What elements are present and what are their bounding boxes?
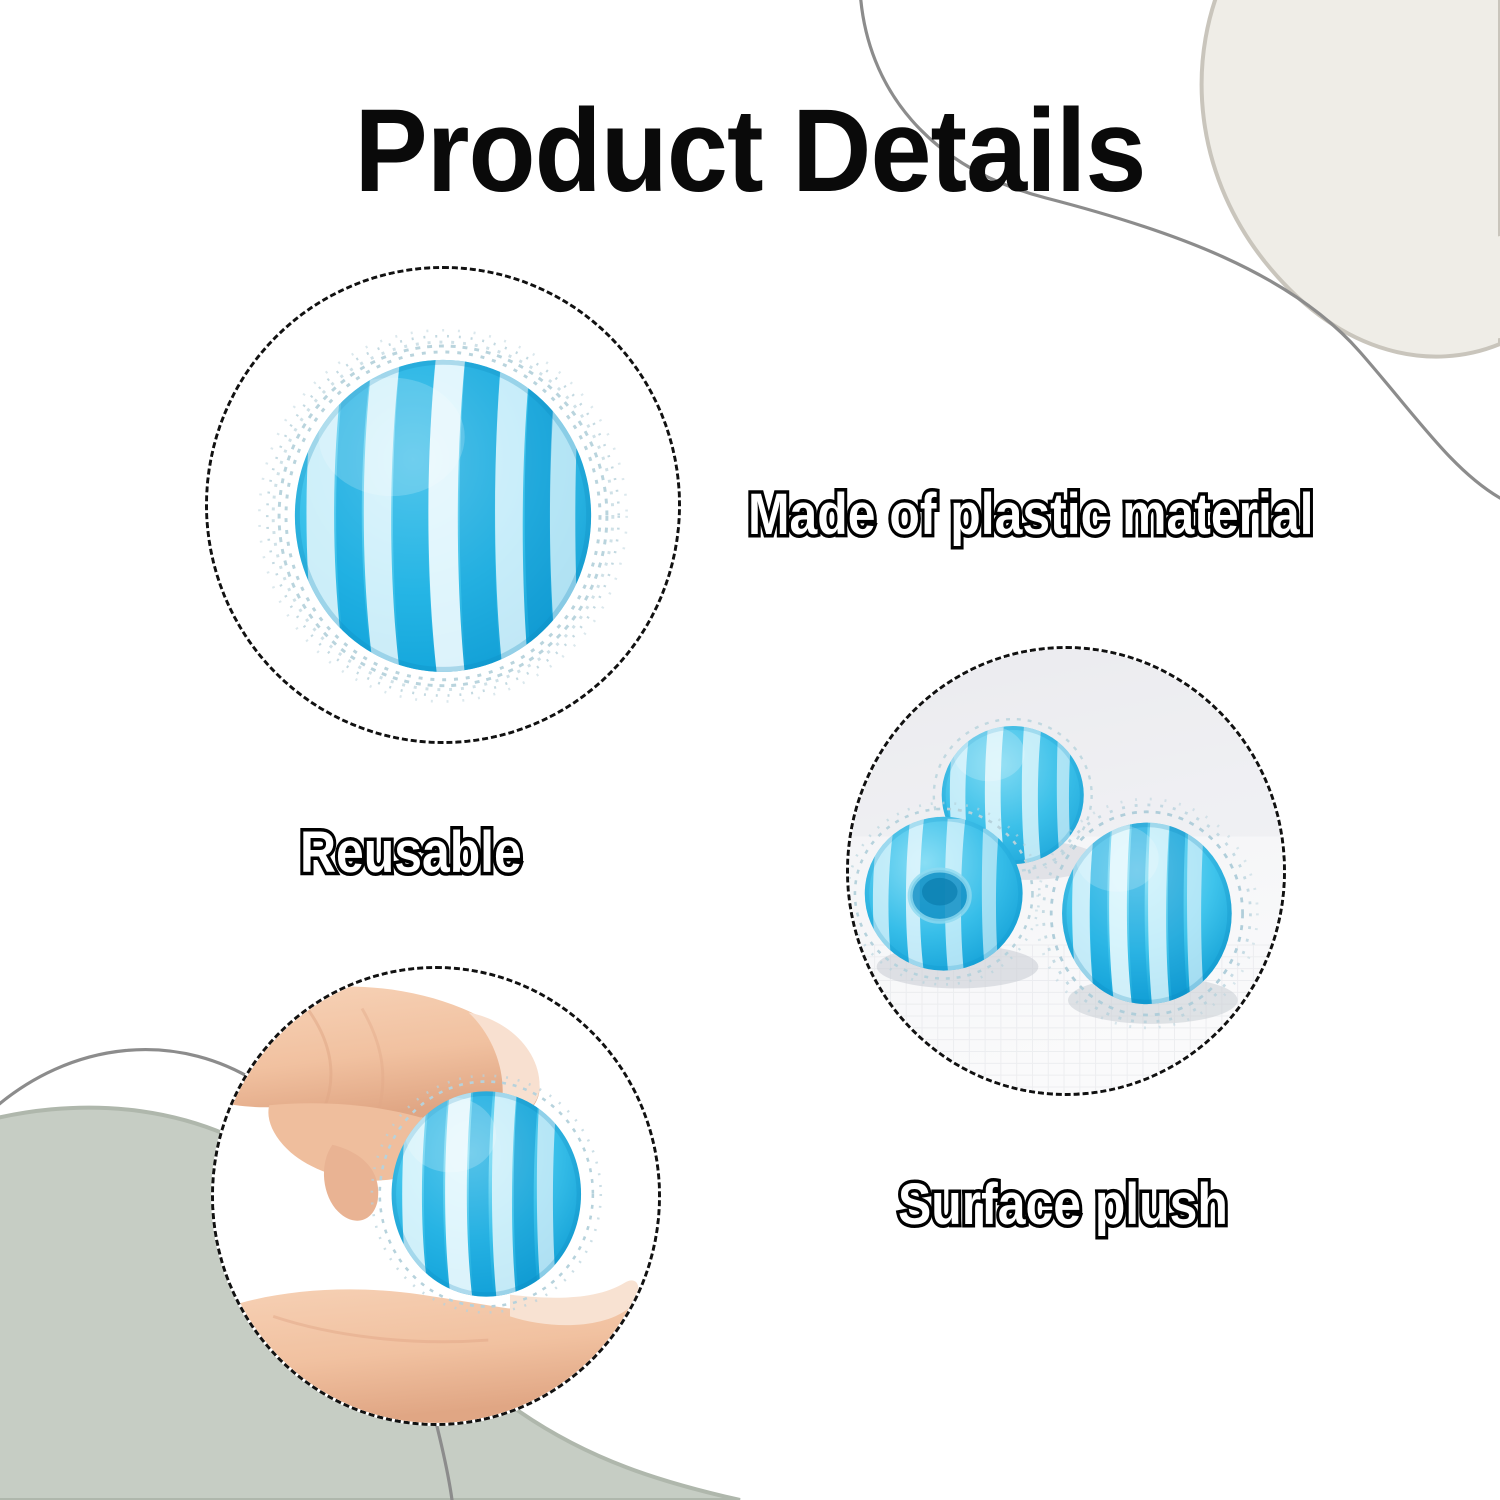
hand-holding-ball-illustration (214, 969, 658, 1423)
label-made-of-plastic-material: Made of plastic material (748, 486, 1313, 544)
decor-line-top (860, 0, 1500, 498)
label-surface-plush: Surface plush (898, 1176, 1228, 1234)
photo-circle-single-ball[interactable] (205, 266, 681, 744)
label-reusable: Reusable (300, 824, 522, 882)
three-balls-illustration (849, 649, 1283, 1093)
photo-circle-hand-holding[interactable] (211, 966, 661, 1426)
single-ball-illustration (208, 269, 678, 741)
infographic-canvas: Product Details (0, 0, 1500, 1500)
page-title: Product Details (53, 92, 1448, 210)
photo-circle-three-balls[interactable] (846, 646, 1286, 1096)
